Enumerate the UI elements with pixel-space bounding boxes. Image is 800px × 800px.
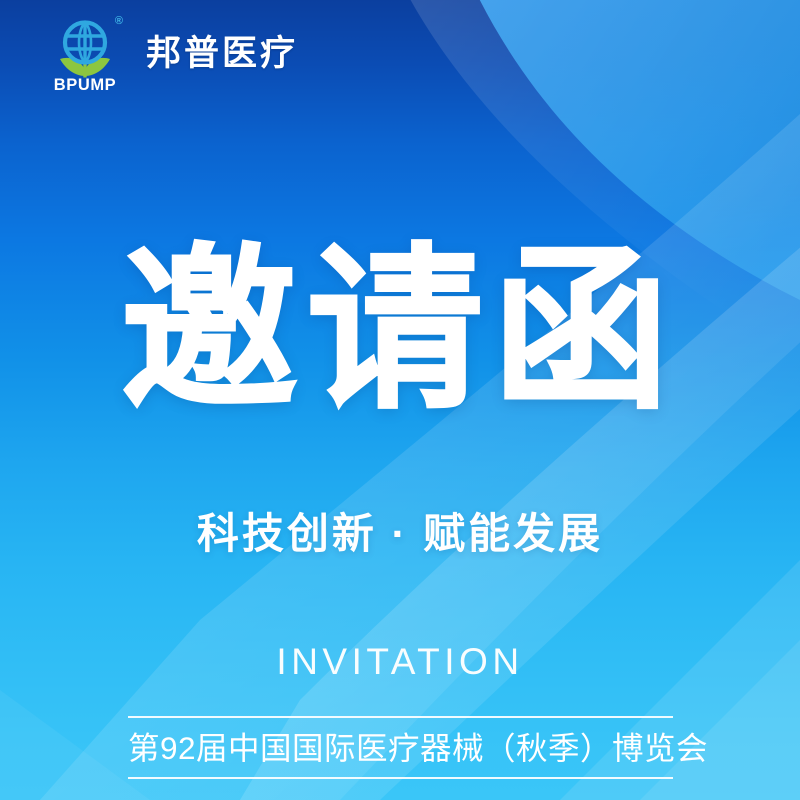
poster-header: ® BPUMP 邦普医疗 (0, 0, 800, 104)
event-name: 第92届中国国际医疗器械（秋季）博览会 (128, 718, 673, 777)
footer-rule-bottom (128, 777, 673, 779)
logo-wordmark: BPUMP (48, 77, 122, 94)
poster-footer: 第92届中国国际医疗器械（秋季）博览会 (128, 716, 673, 779)
page-title: 邀请函 (0, 243, 800, 419)
registered-trademark-icon: ® (115, 16, 123, 27)
invitation-label: INVITATION (0, 643, 800, 680)
page-subtitle: 科技创新 · 赋能发展 (0, 509, 800, 559)
bpump-globe-leaf-logo: ® BPUMP (46, 14, 124, 92)
invitation-poster: ® BPUMP 邦普医疗 邀请函 科技创新 · 赋能发展 INVITATION … (0, 0, 800, 800)
brand-name-cn: 邦普医疗 (146, 36, 298, 71)
